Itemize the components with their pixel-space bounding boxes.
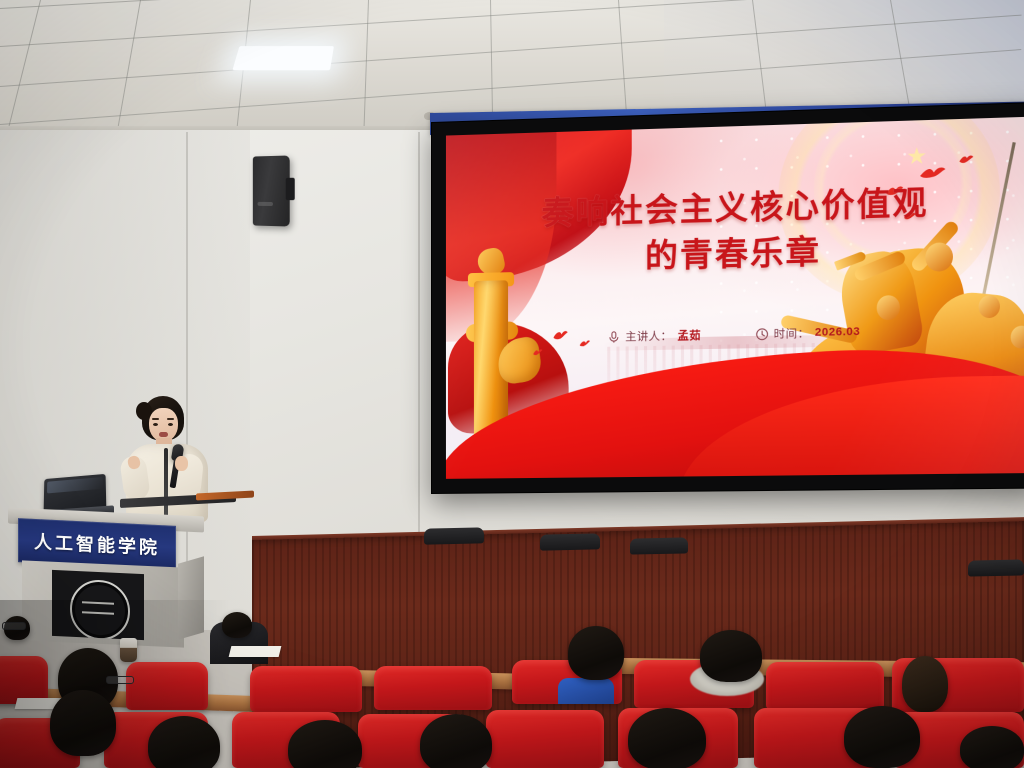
dove-icon — [958, 154, 974, 165]
slide-title-line-1: 奏响社会主义核心价值观 — [541, 184, 928, 231]
audience-seat[interactable] — [126, 662, 208, 710]
stage-chair — [630, 537, 688, 554]
audience-head — [700, 630, 762, 682]
drink-cup — [120, 638, 137, 662]
date-value: 2026.03 — [815, 326, 860, 339]
audience-head — [628, 708, 706, 768]
stage-chair — [424, 527, 484, 544]
projection-display[interactable]: ★ — [432, 103, 1024, 493]
presenter-right-hand — [175, 456, 188, 471]
paper-sheet — [229, 646, 282, 657]
audience-head — [844, 706, 920, 768]
presenter-mouth — [159, 432, 168, 437]
slide-title: 奏响社会主义核心价值观 的青春乐章 — [446, 177, 1024, 285]
audience-head — [420, 714, 492, 768]
audience-seat[interactable] — [486, 710, 604, 768]
presenter-brow — [167, 418, 174, 420]
audience-head — [222, 612, 252, 638]
audience-seat[interactable] — [0, 656, 48, 704]
speaker-name: 孟茹 — [677, 327, 701, 344]
stage-chair — [968, 559, 1024, 576]
ceiling-light-panel — [232, 46, 334, 70]
blue-jacket — [558, 678, 614, 704]
audience-head — [960, 726, 1024, 768]
wall-speaker-icon — [253, 155, 290, 226]
date-label: 时间： — [774, 325, 810, 342]
clock-icon — [755, 327, 769, 341]
presenter-eye — [153, 423, 158, 426]
audience-seat[interactable] — [250, 666, 362, 712]
speaker-mount — [286, 178, 295, 200]
audience-seat[interactable] — [766, 662, 884, 710]
dove-icon — [532, 348, 543, 356]
slide-speaker-meta: 主讲人： 孟茹 — [607, 327, 701, 345]
display-screen[interactable]: ★ — [446, 117, 1024, 479]
seated-audience — [0, 600, 1024, 768]
eyeglasses — [106, 676, 134, 684]
audience-head — [148, 716, 220, 768]
wall-seam — [418, 132, 420, 552]
audience-head — [568, 626, 624, 680]
eyeglasses — [2, 622, 26, 630]
microphone-icon — [607, 330, 620, 343]
audience-seat[interactable] — [374, 666, 492, 710]
audience-head — [288, 720, 362, 768]
presenter-brow — [152, 418, 159, 420]
podium-sign-text: 人工智能学院 — [34, 528, 160, 560]
speaker-grille — [258, 202, 273, 206]
laptop-screen-glare — [47, 477, 103, 493]
slide-date-meta: 时间： 2026.03 — [755, 324, 860, 342]
presenter-eye — [168, 423, 173, 426]
audience-head — [50, 690, 116, 756]
lecture-hall-photo: ★ — [0, 0, 1024, 768]
audience-head — [902, 656, 948, 712]
speaker-label: 主讲人： — [625, 327, 672, 344]
stage-chair — [540, 533, 600, 550]
